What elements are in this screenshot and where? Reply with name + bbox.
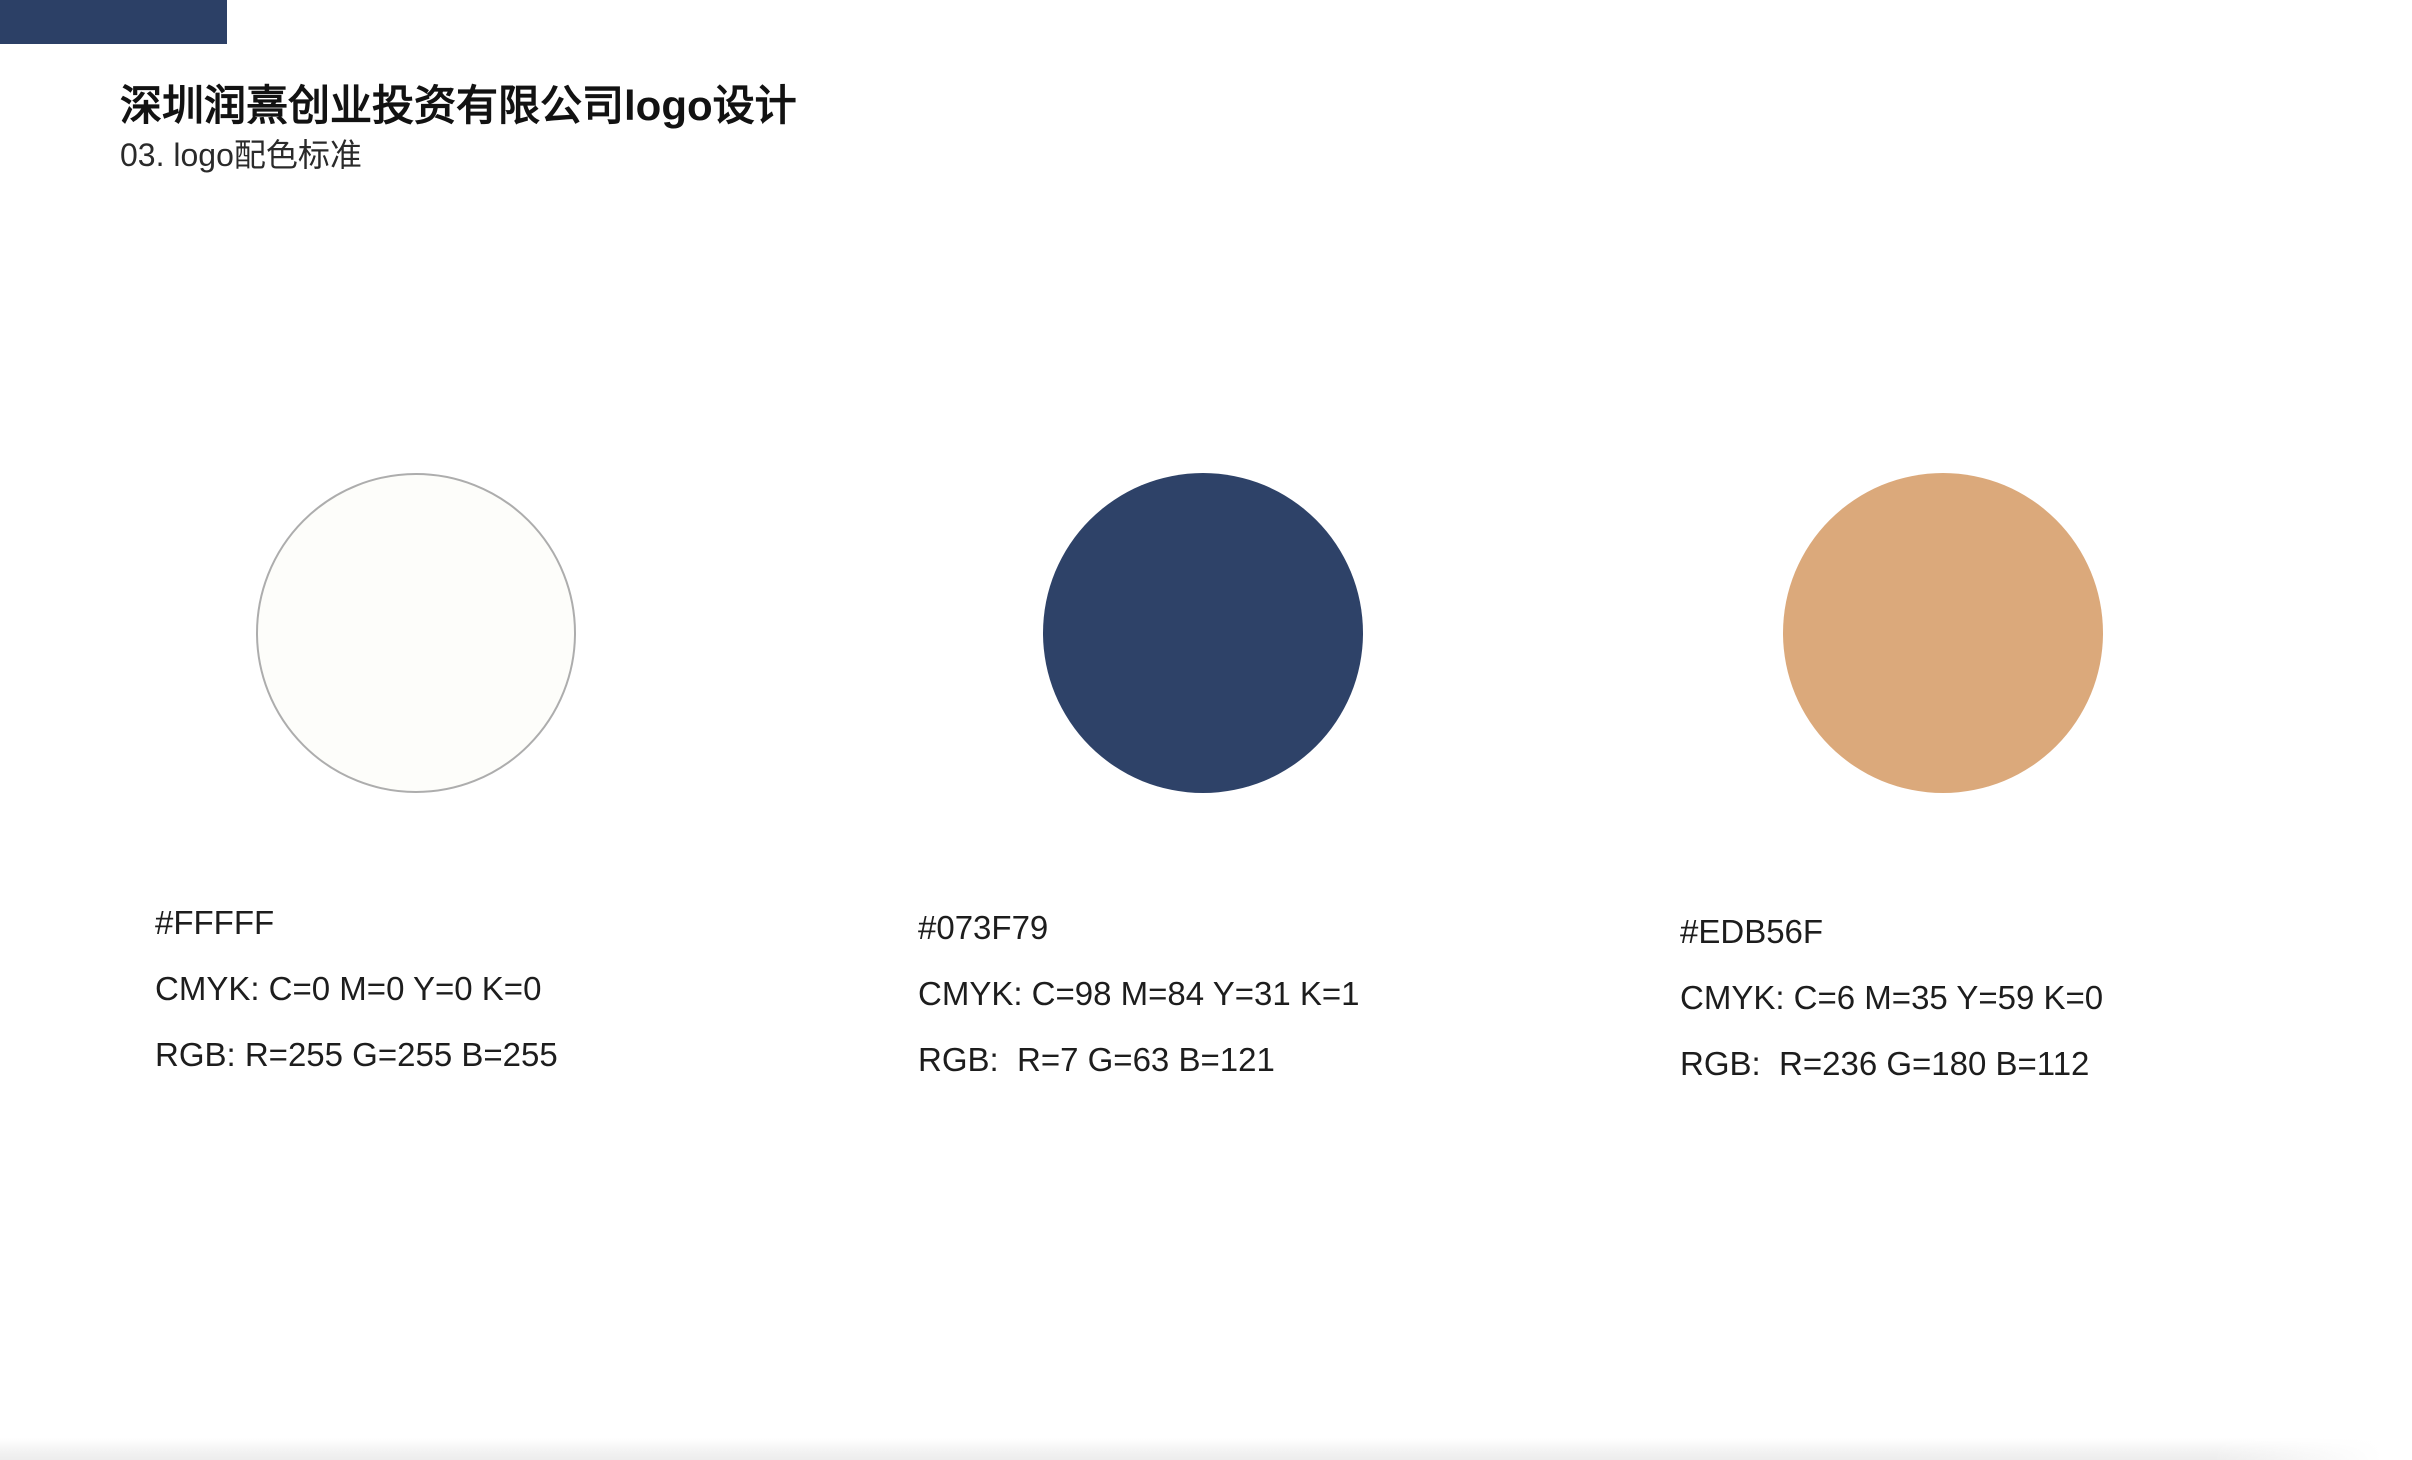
color-cmyk-value: CMYK: C=0 M=0 Y=0 K=0 — [155, 956, 915, 1022]
slide-canvas: 深圳润熹创业投资有限公司logo设计 03. logo配色标准 #FFFFF C… — [0, 0, 2412, 1460]
color-rgb-value: RGB: R=255 G=255 B=255 — [155, 1022, 915, 1088]
color-hex-value: #FFFFF — [155, 890, 915, 956]
color-rgb-value: RGB: R=236 G=180 B=112 — [1680, 1031, 2412, 1097]
color-disc-navy — [1043, 473, 1363, 793]
color-caption-navy: #073F79 CMYK: C=98 M=84 Y=31 K=1 RGB: R=… — [918, 895, 1678, 1093]
color-rgb-value: RGB: R=7 G=63 B=121 — [918, 1027, 1678, 1093]
color-caption-white: #FFFFF CMYK: C=0 M=0 Y=0 K=0 RGB: R=255 … — [155, 890, 915, 1088]
color-caption-tan: #EDB56F CMYK: C=6 M=35 Y=59 K=0 RGB: R=2… — [1680, 899, 2412, 1097]
bottom-chrome-strip — [0, 1438, 2412, 1460]
color-cmyk-value: CMYK: C=98 M=84 Y=31 K=1 — [918, 961, 1678, 1027]
color-hex-value: #073F79 — [918, 895, 1678, 961]
color-cmyk-value: CMYK: C=6 M=35 Y=59 K=0 — [1680, 965, 2412, 1031]
color-disc-white — [256, 473, 576, 793]
color-disc-tan — [1783, 473, 2103, 793]
palette-group: #FFFFF CMYK: C=0 M=0 Y=0 K=0 RGB: R=255 … — [0, 0, 2412, 1460]
color-hex-value: #EDB56F — [1680, 899, 2412, 965]
